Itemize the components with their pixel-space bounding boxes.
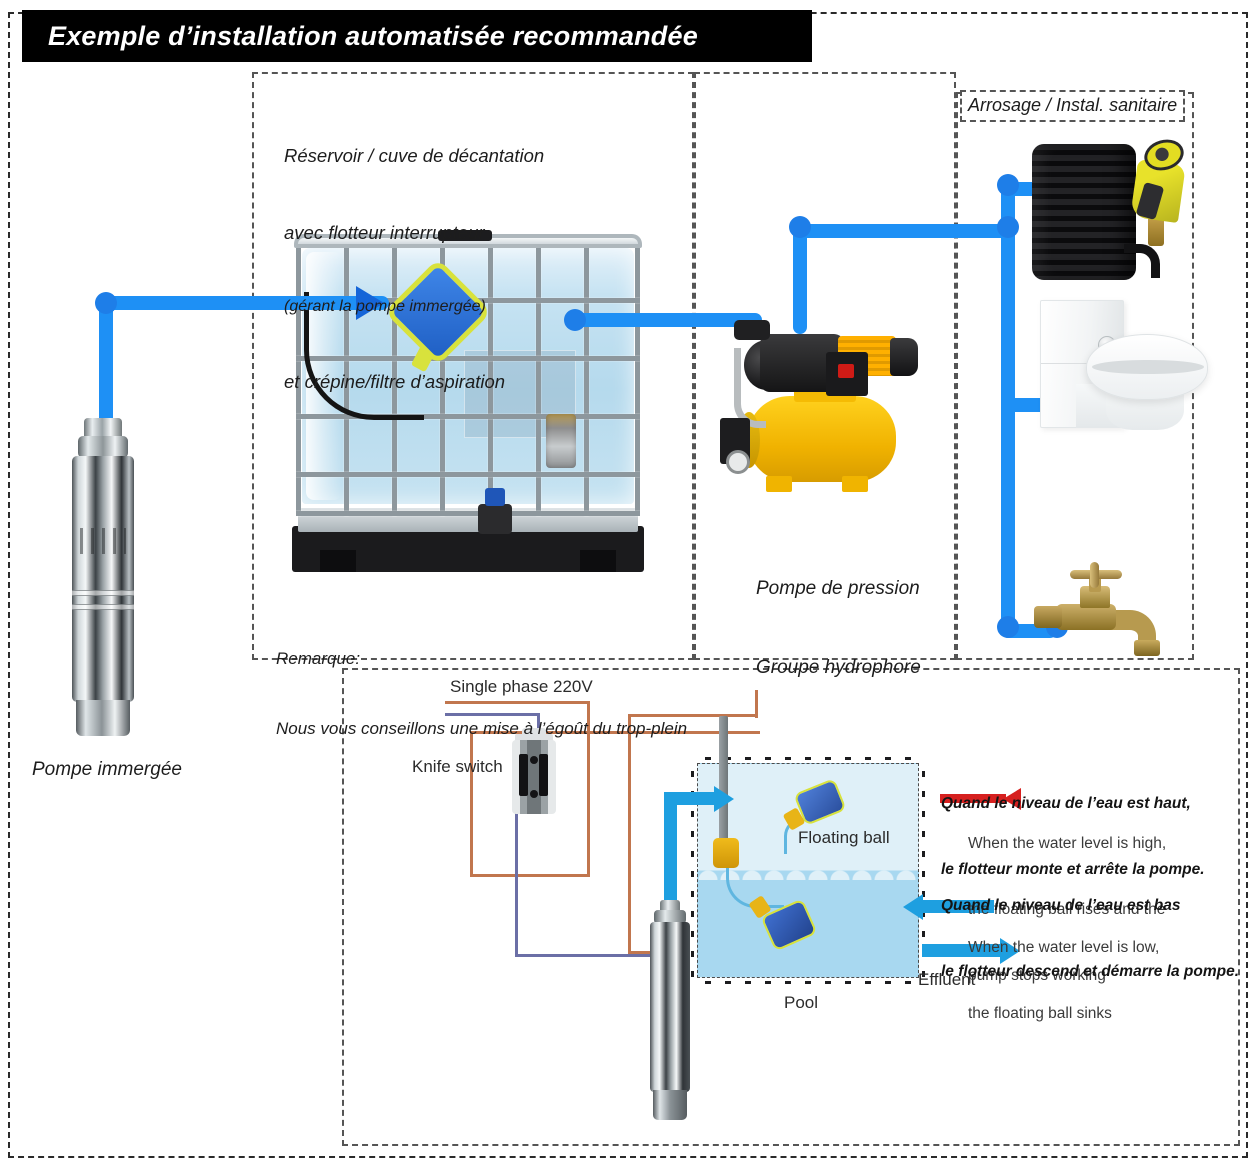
hose-coil xyxy=(1032,144,1136,280)
pressure-pump-label-line-2: Groupe hydrophore xyxy=(756,655,921,681)
bottom-submersible-pump xyxy=(650,900,690,1120)
pressure-switch-box xyxy=(826,352,868,396)
submersible-pump-collar xyxy=(78,436,128,458)
submersible-pump-body xyxy=(72,456,134,702)
submersible-pump-ring-lower xyxy=(72,604,134,610)
page-title: Exemple d’installation automatisée recom… xyxy=(22,10,812,62)
wire-neutral-down xyxy=(515,805,518,957)
floating-ball-label: Floating ball xyxy=(798,828,890,848)
submersible-pump-ring-upper xyxy=(72,590,134,596)
bd-pipe-riser xyxy=(664,792,677,912)
usage-panel-label: Arrosage / Instal. sanitaire xyxy=(960,90,1185,122)
tank-description-line-2: avec flotteur interrupteur xyxy=(284,220,544,246)
tank-description-line-4: et crépine/filtre d’aspiration xyxy=(284,369,544,395)
float-cable-anchor xyxy=(713,838,739,868)
pool-label: Pool xyxy=(784,993,818,1013)
pressure-gauge xyxy=(726,450,750,474)
toilet-bowl-rim xyxy=(1092,360,1204,374)
wire-neutral-to-pump xyxy=(515,954,670,957)
knife-switch-terminal-bottom xyxy=(530,790,538,798)
wire-live-return xyxy=(470,874,590,877)
pump-motor-fan-cover xyxy=(890,338,918,376)
hose-tail xyxy=(1124,244,1160,278)
pipe-joint-drop-bottom xyxy=(997,616,1019,638)
tank-remark-title: Remarque: xyxy=(276,647,687,670)
tank-remark-text: Nous vous conseillons une mise à l’égoût… xyxy=(276,717,687,740)
installation-diagram-page: Exemple d’installation automatisée recom… xyxy=(0,0,1256,1168)
pressure-tank xyxy=(748,396,896,482)
supply-label: Single phase 220V xyxy=(450,677,593,697)
submersible-pump-cap xyxy=(84,418,122,438)
faucet-image xyxy=(1034,570,1174,656)
faucet-handle-vertical xyxy=(1090,562,1099,588)
garden-hose-image xyxy=(1032,140,1192,285)
ibc-drain-valve xyxy=(478,504,512,534)
pipe-pump-to-manifold xyxy=(793,224,1008,238)
suction-strainer-filter xyxy=(546,414,576,468)
note-low-level-en: When the water level is low, the floatin… xyxy=(968,893,1159,1069)
pipe-manifold-drop xyxy=(1001,224,1015,636)
ibc-metal-tray xyxy=(298,508,638,532)
pressure-pump-image xyxy=(718,300,930,512)
bottom-pump-foot xyxy=(653,1090,687,1120)
submersible-pump-label: Pompe immergée xyxy=(32,757,182,783)
submersible-pump-image xyxy=(72,418,134,736)
knife-switch-label: Knife switch xyxy=(412,757,503,777)
faucet-outlet xyxy=(1134,640,1160,656)
pressure-pump-label: Pompe de pression Groupe hydrophore xyxy=(756,524,921,734)
pipe-joint-submersible xyxy=(95,292,117,314)
note-low-en-line-1: When the water level is low, xyxy=(968,937,1159,959)
pressure-tank-foot xyxy=(842,476,868,492)
tank-description-line-1: Réservoir / cuve de décantation xyxy=(284,143,544,169)
pressure-tank-foot xyxy=(766,476,792,492)
submersible-pump-foot xyxy=(76,700,130,736)
pipe-joint-hose xyxy=(997,174,1019,196)
pump-flexible-hose xyxy=(734,348,766,428)
pipe-joint-manifold xyxy=(997,216,1019,238)
toilet-image xyxy=(1040,300,1210,512)
pipe-submersible-riser xyxy=(99,300,113,430)
pressure-pump-label-line-1: Pompe de pression xyxy=(756,576,921,602)
faucet-inlet xyxy=(1034,606,1062,628)
bd-pipe-outlet xyxy=(664,792,716,805)
tank-description-line-3: (gérant la pompe immergée) xyxy=(284,296,544,318)
tank-description: Réservoir / cuve de décantation avec flo… xyxy=(284,92,544,446)
bottom-pump-body xyxy=(650,922,690,1092)
pipe-joint-tank-outlet xyxy=(564,309,586,331)
float-support-rod xyxy=(719,716,728,842)
pump-suction-inlet xyxy=(734,320,770,340)
note-low-en-line-2: the floating ball sinks xyxy=(968,1003,1159,1025)
bd-arrow-inflow xyxy=(714,786,734,812)
bd-arrow-low-level xyxy=(903,894,923,920)
pipe-joint-pump-discharge xyxy=(789,216,811,238)
cage-bar-v xyxy=(635,240,640,516)
ibc-pallet xyxy=(292,526,644,572)
submersible-pump-intake-slots xyxy=(80,528,126,554)
